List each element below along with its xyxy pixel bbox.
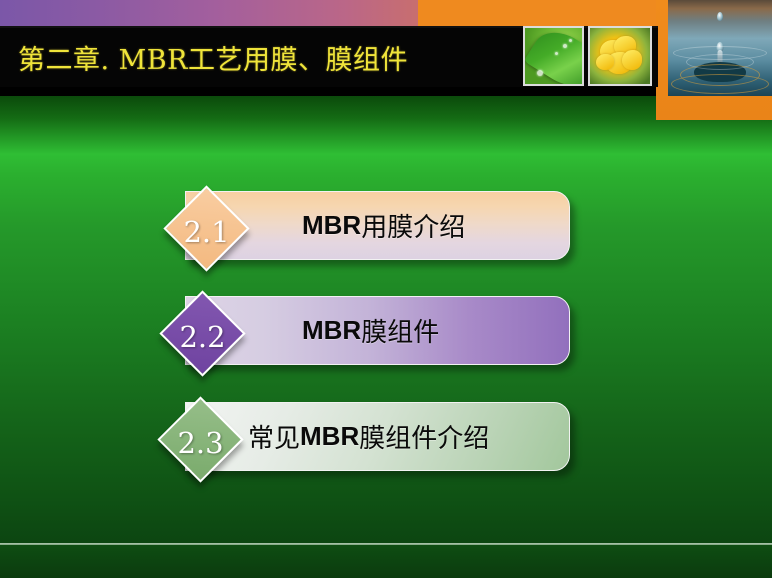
agenda-number-badge-2[interactable]: 2.2	[159, 290, 245, 376]
waterdrop-image	[668, 0, 772, 96]
bottom-fill	[0, 545, 772, 578]
agenda-label-2-rest: 膜组件	[361, 312, 439, 349]
agenda-row-3[interactable]: 常见MBR膜组件介绍 2.3	[0, 391, 772, 483]
agenda-label-3-prefix: 常见	[248, 418, 300, 455]
bottom-divider	[0, 543, 772, 545]
agenda-label-3-bold: MBR	[300, 421, 359, 452]
agenda-row-1[interactable]: MBR用膜介绍 2.1	[0, 180, 772, 272]
presentation-slide: 第二章. MBR工艺用膜、膜组件 MBR用膜介绍 2.1	[0, 0, 772, 578]
flower-thumbnail	[588, 26, 652, 86]
agenda-label-2-bold: MBR	[302, 315, 361, 346]
agenda-number-2: 2.2	[158, 294, 247, 379]
agenda-number-badge-1[interactable]: 2.1	[163, 185, 249, 271]
page-title: 第二章. MBR工艺用膜、膜组件	[18, 30, 518, 84]
agenda-label-1-bold: MBR	[302, 210, 361, 241]
agenda-number-badge-3[interactable]: 2.3	[157, 396, 243, 482]
orange-bridge-band	[418, 0, 668, 27]
leaf-thumbnail	[523, 26, 584, 86]
agenda-number-1: 2.1	[162, 189, 251, 274]
agenda-label-3-rest: 膜组件介绍	[359, 418, 489, 455]
agenda-number-3: 2.3	[156, 400, 245, 485]
agenda-label-1-rest: 用膜介绍	[361, 207, 465, 244]
agenda-row-2[interactable]: MBR膜组件 2.2	[0, 285, 772, 377]
